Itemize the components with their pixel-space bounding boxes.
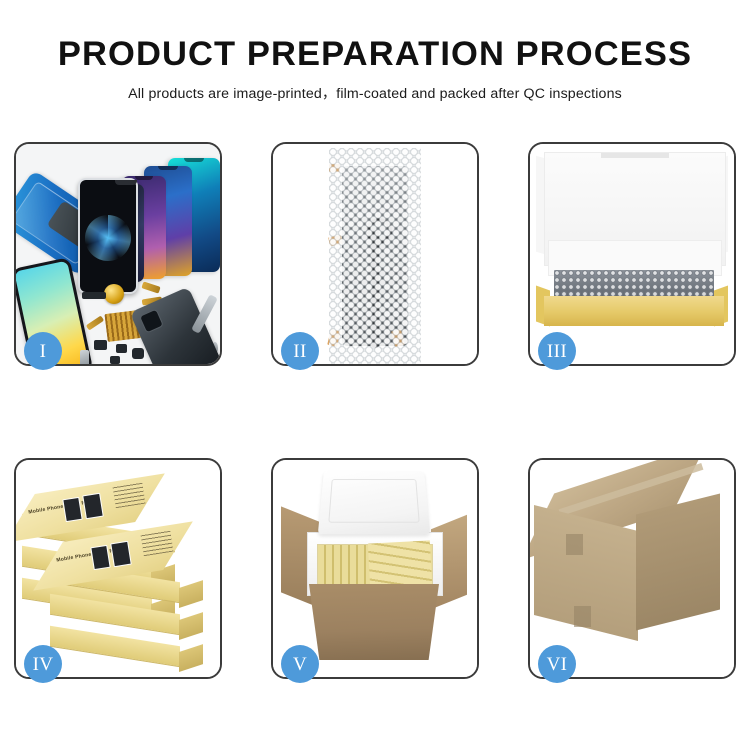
chip-part-3 — [116, 344, 127, 353]
step-badge-6: VI — [538, 645, 576, 683]
carton-tab-lower — [574, 606, 591, 627]
retail-box-thumb-back-1 — [62, 497, 82, 522]
speaker-coil-part — [104, 284, 124, 304]
styrofoam-box-lid — [318, 471, 430, 534]
carton-front-panel — [309, 584, 439, 660]
step-panel-2: II — [271, 142, 479, 366]
step-badge-4: IV — [24, 645, 62, 683]
carton-right-face — [636, 494, 720, 631]
bubble-wrapped-contents — [554, 270, 714, 298]
retail-box-thumb-front-2 — [110, 541, 132, 568]
page-header: PRODUCT PREPARATION PROCESS All products… — [0, 36, 750, 103]
chip-part-2 — [94, 340, 107, 350]
step-panel-4: Mobile Phone Spare Parts Mobile Phone Sp… — [14, 458, 222, 679]
metal-bracket-1 — [80, 350, 89, 364]
carton-tab-upper — [566, 534, 583, 555]
chip-part-1 — [82, 292, 106, 299]
bubble-wrapped-screen-image — [273, 144, 477, 364]
open-yellow-carton-image — [530, 144, 734, 364]
flex-cable-4 — [86, 315, 104, 330]
chip-part-5 — [110, 356, 120, 364]
box-front-panel — [544, 296, 724, 326]
retail-box-spec-lines-back — [112, 482, 145, 508]
yellow-packed-boxes-second-row — [368, 540, 432, 587]
page-subtitle: All products are image-printed，film-coat… — [0, 83, 750, 103]
step-panel-3: III — [528, 142, 736, 366]
step-panel-1: I — [14, 142, 222, 366]
black-front-glass — [78, 178, 138, 294]
phone-parts-image — [16, 144, 220, 364]
step-panel-5: V — [271, 458, 479, 679]
phone-notch — [115, 180, 137, 185]
page-title: PRODUCT PREPARATION PROCESS — [0, 36, 750, 72]
retail-box-thumb-front-1 — [90, 545, 110, 570]
bubble-wrap-bag — [329, 148, 421, 364]
retail-box-thumb-back-2 — [82, 493, 104, 520]
step-badge-5: V — [281, 645, 319, 683]
step-badge-2: II — [281, 332, 319, 370]
step-badge-1: I — [24, 332, 62, 370]
chip-part-4 — [132, 348, 144, 359]
step-panel-6: VI — [528, 458, 736, 679]
retail-box-spec-lines-front — [140, 530, 173, 556]
flex-cable-1 — [141, 281, 160, 293]
process-steps-grid: I II III — [14, 142, 736, 679]
step-badge-3: III — [538, 332, 576, 370]
